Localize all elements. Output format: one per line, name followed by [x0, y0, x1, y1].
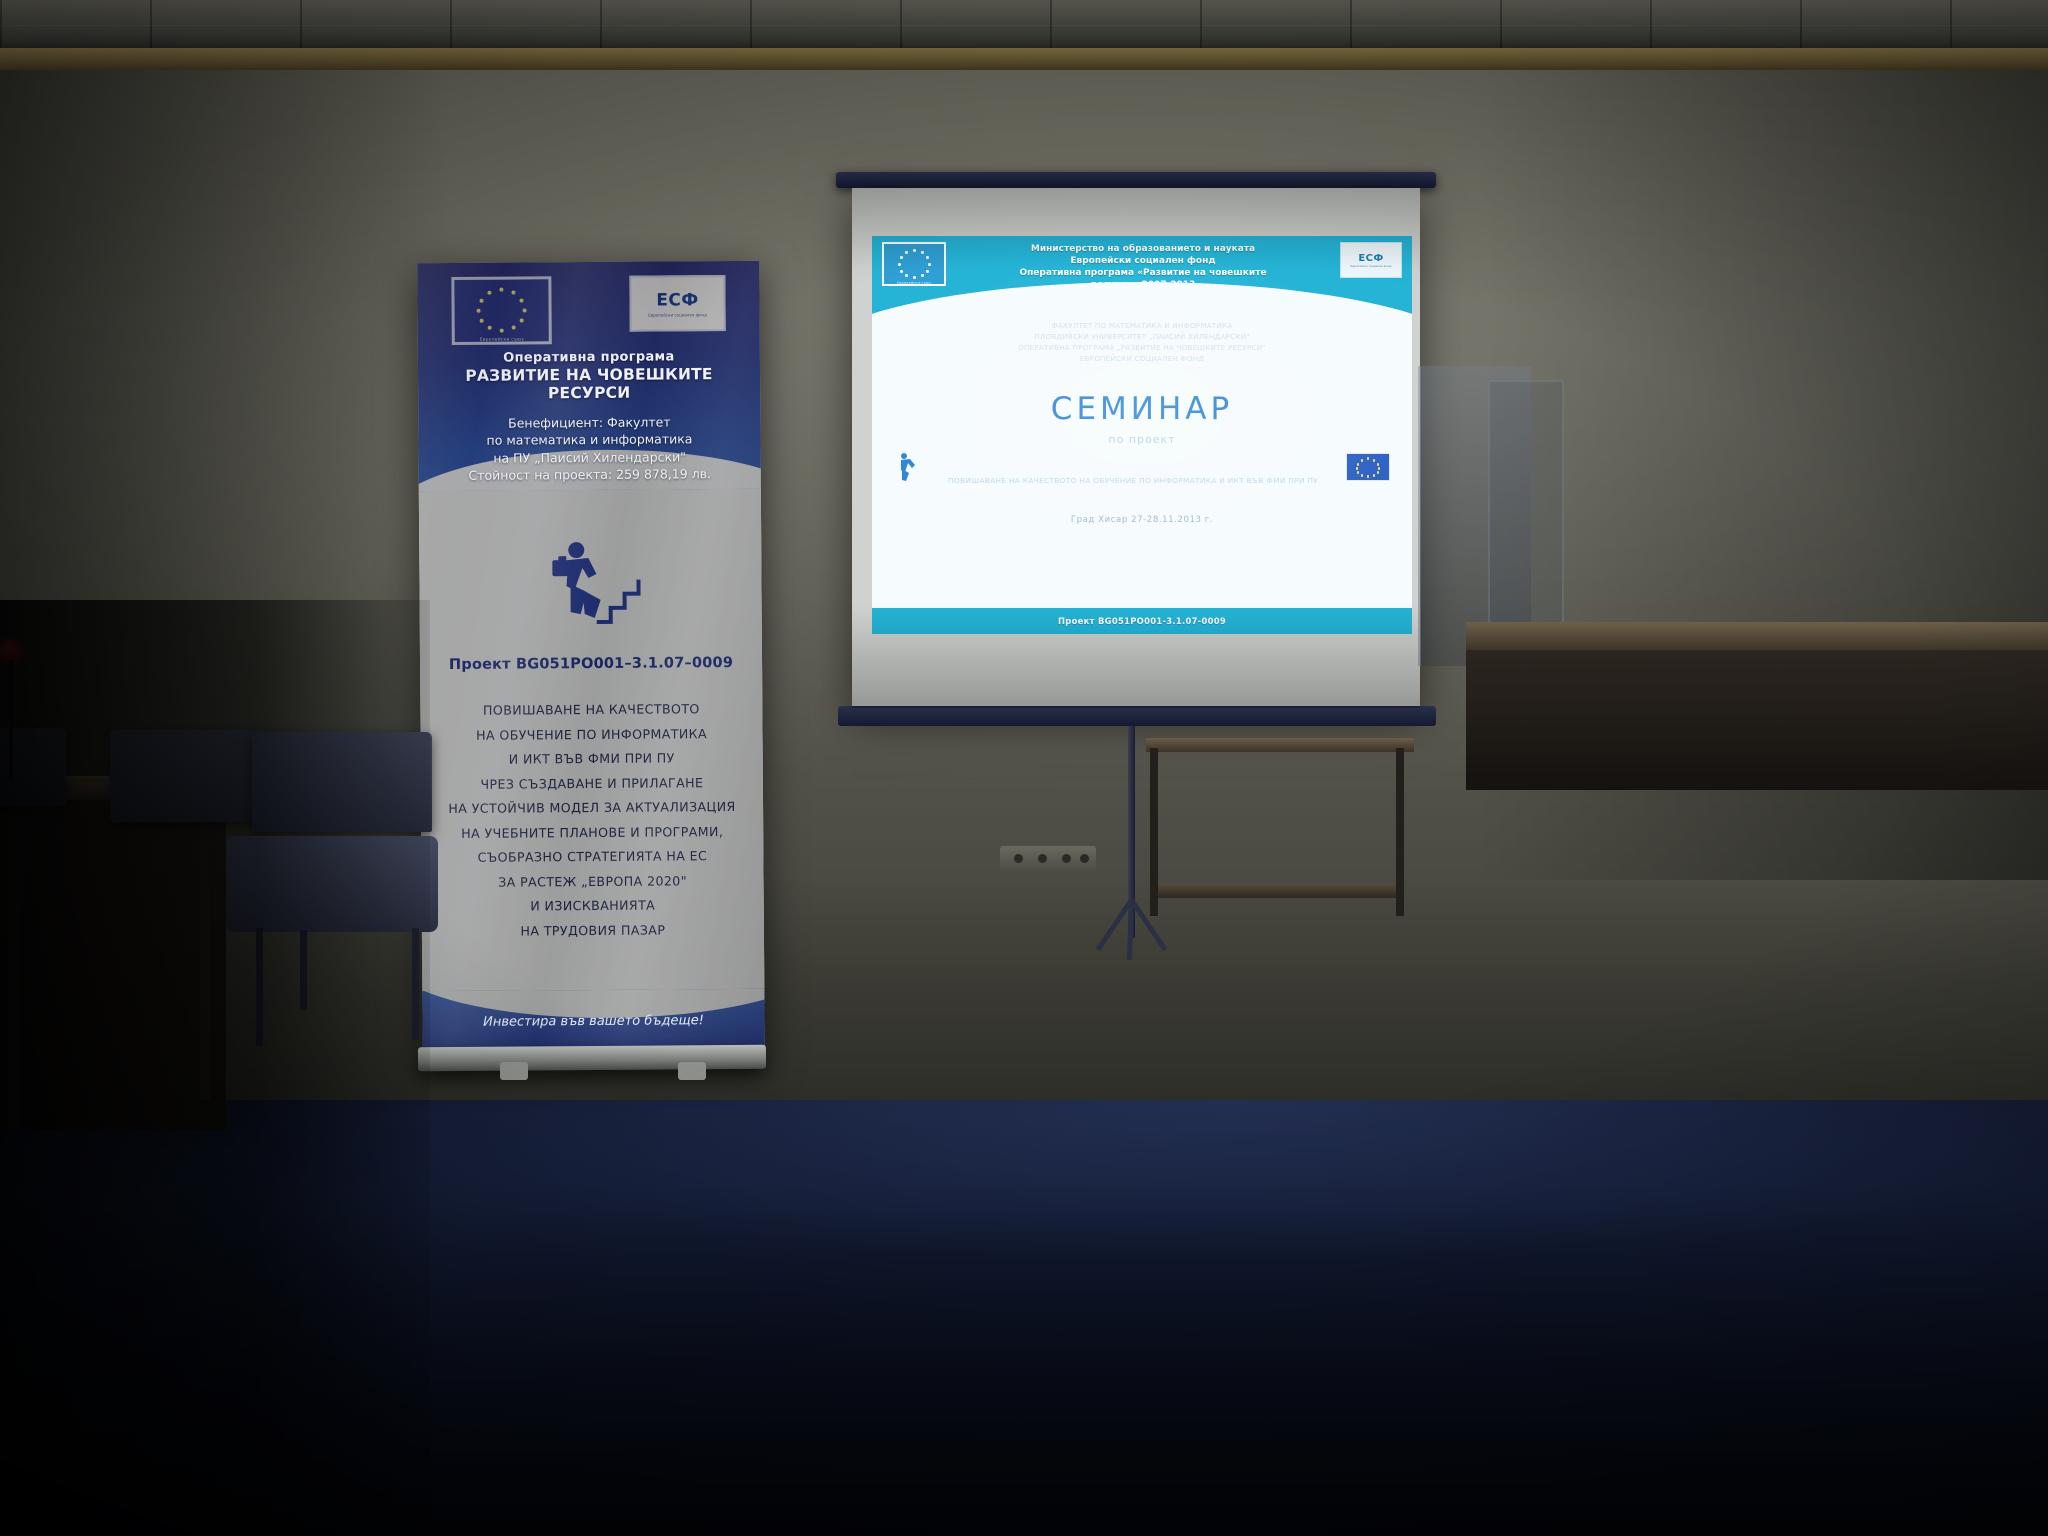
banner-body-line: ЧРЕЗ СЪЗДАВАНЕ И ПРИЛАГАНЕ	[448, 771, 735, 798]
right-desk-front	[1466, 650, 2048, 790]
slide-project-number: Проект BG051PO001-3.1.07-0009	[1058, 616, 1226, 626]
roll-up-banner: Европейски съюз ЕСФ Европейски социален …	[417, 261, 765, 1053]
esf-logo-icon: ЕСФ Европейски социален фонд	[629, 275, 725, 332]
slide-date-place: Град Хисар 27-28.11.2013 г.	[888, 515, 1396, 525]
banner-project-value: Стойност на проекта: 259 878,19 лв.	[437, 465, 743, 484]
banner-stand-base	[418, 1045, 766, 1071]
eu-flag-icon	[1346, 453, 1390, 481]
screen-top-bar	[836, 172, 1436, 188]
banner-foot-left	[500, 1062, 528, 1080]
esf-logo-sub: Европейски социален фонд	[1351, 264, 1392, 268]
whiteboard-panel	[1488, 380, 1564, 644]
right-desk-top	[1466, 622, 2048, 652]
eu-stars	[1347, 454, 1389, 480]
slide-faint-block: ФАКУЛТЕТ ПО МАТЕМАТИКА И ИНФОРМАТИКА ПЛО…	[888, 320, 1396, 365]
projected-slide: Европейски съюз Министерство на образова…	[872, 236, 1412, 634]
eu-stars	[884, 244, 944, 284]
slide-subtitle: по проект	[888, 433, 1396, 446]
esf-logo-text: ЕСФ	[656, 290, 699, 310]
bottom-shadow-overlay	[0, 1180, 2048, 1536]
esf-logo-text: ЕСФ	[1358, 253, 1383, 264]
banner-beneficiary-l2: по математика и информатика	[436, 430, 742, 449]
banner-body: Проект BG051PO001–3.1.07–0009 ПОВИШАВАНЕ…	[419, 489, 764, 991]
slide-header-line1: Министерство на образованието и науката	[950, 244, 1336, 256]
eu-flag-icon: Европейски съюз	[882, 242, 946, 286]
slide-faint-line: ОПЕРАТИВНА ПРОГРАМА „РАЗВИТИЕ НА ЧОВЕШКИ…	[888, 342, 1396, 353]
ceiling	[0, 0, 2048, 52]
side-table-leg	[1150, 748, 1158, 916]
banner-project-number: Проект BG051PO001–3.1.07–0009	[449, 655, 733, 673]
eu-flag-caption: Европейски съюз	[884, 281, 944, 285]
slide-header-band: Европейски съюз Министерство на образова…	[872, 236, 1412, 314]
climbing-person-icon	[530, 538, 651, 635]
banner-beneficiary-l1: Бенефициент: Факултет	[436, 413, 742, 432]
banner-body-line: ЗА РАСТЕЖ „ЕВРОПА 2020"	[449, 869, 736, 896]
slide-ministry-text: Министерство на образованието и науката …	[946, 242, 1340, 292]
banner-body-line: И ИЗИСКВАНИЯТА	[449, 893, 736, 920]
wall-power-socket[interactable]	[1000, 846, 1096, 872]
room-scene: Европейски съюз ЕСФ Европейски социален …	[0, 0, 2048, 1536]
banner-body-line: НА ОБУЧЕНИЕ ПО ИНФОРМАТИКА	[448, 722, 735, 749]
banner-footer-slogan: Инвестира във вашето бъдеще!	[483, 1013, 704, 1030]
banner-body-line: НА УЧЕБНИТЕ ПЛАНОВЕ И ПРОГРАМИ,	[448, 820, 735, 847]
side-table-shelf	[1156, 884, 1404, 898]
climbing-person-icon	[894, 452, 920, 482]
banner-beneficiary-block: Бенефициент: Факултет по математика и ин…	[436, 413, 742, 484]
slide-header-row: Европейски съюз Министерство на образова…	[872, 236, 1412, 292]
slide-header-line2: Европейски социален фонд	[950, 256, 1336, 268]
banner-body-line: СЪОБРАЗНО СТРАТЕГИЯТА НА ЕС	[449, 844, 736, 871]
slide-body: ФАКУЛТЕТ ПО МАТЕМАТИКА И ИНФОРМАТИКА ПЛО…	[872, 314, 1412, 525]
banner-foot-right	[678, 1062, 706, 1080]
banner-body-line: НА ТРУДОВИЯ ПАЗАР	[449, 918, 736, 945]
ceiling-grid	[0, 0, 2048, 52]
banner-op-program-name: РАЗВИТИЕ НА ЧОВЕШКИТЕ РЕСУРСИ	[436, 365, 742, 403]
slide-topic: ПОВИШАВАНЕ НА КАЧЕСТВОТО НА ОБУЧЕНИЕ ПО …	[948, 476, 1318, 485]
banner-beneficiary-l3: на ПУ „Паисий Хилендарски"	[437, 447, 743, 466]
eu-flag-caption: Европейски съюз	[455, 337, 549, 343]
screen-bottom-bar	[838, 706, 1436, 726]
esf-logo-sub: Европейски социален фонд	[648, 312, 707, 317]
slide-faint-line: ЕВРОПЕЙСКИ СОЦИАЛЕН ФОНД	[888, 353, 1396, 364]
banner-body-line: ПОВИШАВАНЕ НА КАЧЕСТВОТО	[448, 697, 735, 724]
slide-faint-line: ФАКУЛТЕТ ПО МАТЕМАТИКА И ИНФОРМАТИКА	[888, 320, 1396, 331]
banner-header: Европейски съюз ЕСФ Европейски социален …	[417, 261, 761, 491]
banner-body-lines: ПОВИШАВАНЕ НА КАЧЕСТВОТО НА ОБУЧЕНИЕ ПО …	[448, 697, 737, 944]
banner-op-program-label: Оперативна програма	[436, 349, 742, 366]
slide-middle-row: ПОВИШАВАНЕ НА КАЧЕСТВОТО НА ОБУЧЕНИЕ ПО …	[888, 450, 1396, 485]
slide-header-line4: ресурси» 2007-2013	[950, 280, 1336, 292]
side-table-leg	[1396, 748, 1404, 916]
esf-logo-icon: ЕСФ Европейски социален фонд	[1340, 242, 1402, 278]
slide-title: СЕМИНАР	[888, 391, 1396, 427]
eu-flag-icon: Европейски съюз	[451, 276, 551, 345]
eu-stars	[454, 279, 548, 342]
banner-footer: Инвестира във вашето бъдеще!	[422, 989, 764, 1053]
banner-body-line: И ИКТ ВЪВ ФМИ ПРИ ПУ	[448, 746, 735, 773]
banner-header-text: Оперативна програма РАЗВИТИЕ НА ЧОВЕШКИТ…	[418, 349, 761, 484]
banner-body-line: НА УСТОЙЧИВ МОДЕЛ ЗА АКТУАЛИЗАЦИЯ	[448, 795, 735, 822]
slide-faint-line: ПЛОВДИВСКИ УНИВЕРСИТЕТ „ПАИСИЙ ХИЛЕНДАРС…	[888, 331, 1396, 342]
side-table-top	[1146, 738, 1414, 752]
slide-header-line3: Оперативна програма «Развитие на човешки…	[950, 268, 1336, 280]
banner-logo-row: Европейски съюз ЕСФ Европейски социален …	[417, 261, 760, 351]
slide-footer-band: Проект BG051PO001-3.1.07-0009	[872, 608, 1412, 634]
